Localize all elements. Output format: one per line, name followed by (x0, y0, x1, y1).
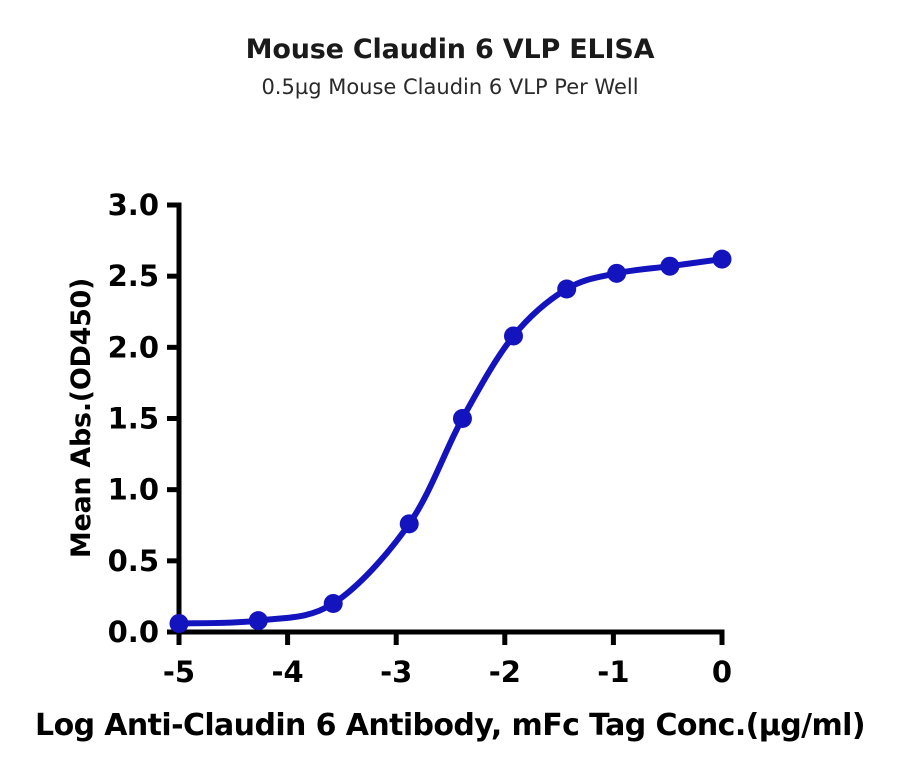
y-tick-label: 1.0 (108, 473, 159, 507)
data-point-marker (170, 614, 189, 633)
data-point-marker (713, 250, 732, 269)
y-tick-label: 1.5 (108, 402, 159, 436)
x-axis-title: Log Anti-Claudin 6 Antibody, mFc Tag Con… (35, 708, 865, 743)
y-tick-label: 3.0 (108, 188, 159, 222)
data-point-marker (660, 257, 679, 276)
data-point-marker (249, 611, 268, 630)
data-point-marker (557, 279, 576, 298)
plot-svg: 0.00.51.01.52.02.53.0 -5-4-3-2-10 Log An… (0, 0, 900, 776)
data-point-marker (504, 326, 523, 345)
x-tick-labels: -5-4-3-2-10 (163, 655, 732, 689)
series-curve (179, 259, 722, 623)
x-tick-label: -1 (597, 655, 629, 689)
data-point-marker (607, 264, 626, 283)
x-tick-label: -5 (163, 655, 195, 689)
x-tick-label: -3 (380, 655, 412, 689)
y-axis-title: Mean Abs.(OD450) (66, 278, 97, 558)
y-tick-label: 2.5 (108, 259, 159, 293)
plot-area: 0.00.51.01.52.02.53.0 -5-4-3-2-10 Log An… (0, 0, 900, 776)
y-tick-label: 0.5 (108, 544, 159, 578)
x-tick-label: -4 (271, 655, 303, 689)
data-point-marker (400, 514, 419, 533)
elisa-chart-figure: Mouse Claudin 6 VLP ELISA 0.5µg Mouse Cl… (0, 0, 900, 776)
y-tick-label: 0.0 (108, 615, 159, 649)
data-point-marker (324, 594, 343, 613)
data-point-marker (453, 409, 472, 428)
x-tick-label: -2 (489, 655, 521, 689)
y-tick-labels: 0.00.51.01.52.02.53.0 (108, 188, 159, 649)
y-tick-label: 2.0 (108, 330, 159, 364)
x-tick-label: 0 (712, 655, 732, 689)
